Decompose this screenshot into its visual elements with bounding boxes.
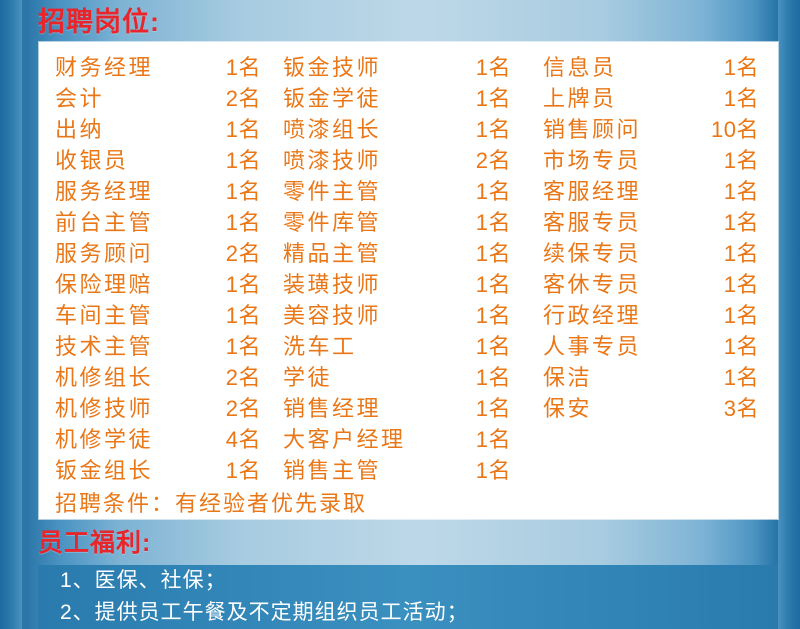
job-title: 出纳 bbox=[55, 114, 104, 145]
job-count: 3名 bbox=[724, 393, 759, 424]
job-count: 1名 bbox=[724, 176, 759, 207]
job-count: 1名 bbox=[226, 114, 261, 145]
job-row: 保洁1名 bbox=[543, 362, 769, 393]
job-row: 收银员1名 bbox=[55, 145, 279, 176]
job-row: 销售经理1名 bbox=[283, 393, 535, 424]
job-title: 喷漆技师 bbox=[283, 145, 381, 176]
job-row: 喷漆技师2名 bbox=[283, 145, 535, 176]
job-count: 2名 bbox=[226, 83, 261, 114]
right-edge-band bbox=[778, 0, 800, 629]
job-count: 1名 bbox=[476, 52, 511, 83]
job-count: 2名 bbox=[476, 145, 511, 176]
job-count: 2名 bbox=[226, 393, 261, 424]
recruitment-requirement: 招聘条件：有经验者优先录取 bbox=[55, 486, 367, 518]
job-count: 2名 bbox=[226, 238, 261, 269]
job-count: 1名 bbox=[724, 207, 759, 238]
job-title: 服务顾问 bbox=[55, 238, 153, 269]
job-row: 精品主管1名 bbox=[283, 238, 535, 269]
job-row: 客休专员1名 bbox=[543, 269, 769, 300]
job-count: 1名 bbox=[724, 269, 759, 300]
job-title: 续保专员 bbox=[543, 238, 641, 269]
job-row: 上牌员1名 bbox=[543, 83, 769, 114]
job-count: 1名 bbox=[476, 269, 511, 300]
job-row: 前台主管1名 bbox=[55, 207, 279, 238]
job-title: 喷漆组长 bbox=[283, 114, 381, 145]
job-title: 前台主管 bbox=[55, 207, 153, 238]
job-count: 1名 bbox=[476, 300, 511, 331]
job-title: 技术主管 bbox=[55, 331, 153, 362]
benefit-line: 1、医保、社保； bbox=[38, 565, 778, 597]
job-count: 1名 bbox=[476, 424, 511, 455]
job-row: 续保专员1名 bbox=[543, 238, 769, 269]
job-title: 车间主管 bbox=[55, 300, 153, 331]
job-row: 服务经理1名 bbox=[55, 176, 279, 207]
job-title: 美容技师 bbox=[283, 300, 381, 331]
job-row: 保安3名 bbox=[543, 393, 769, 424]
jobs-column-2: 钣金技师1名钣金学徒1名喷漆组长1名喷漆技师2名零件主管1名零件库管1名精品主管… bbox=[283, 52, 535, 486]
job-row: 行政经理1名 bbox=[543, 300, 769, 331]
job-count: 1名 bbox=[724, 52, 759, 83]
job-count: 1名 bbox=[226, 207, 261, 238]
job-title: 上牌员 bbox=[543, 83, 617, 114]
job-title: 洗车工 bbox=[283, 331, 357, 362]
job-count: 1名 bbox=[226, 176, 261, 207]
job-row: 车间主管1名 bbox=[55, 300, 279, 331]
job-row: 洗车工1名 bbox=[283, 331, 535, 362]
job-row: 机修学徒4名 bbox=[55, 424, 279, 455]
job-count: 1名 bbox=[226, 145, 261, 176]
job-row: 钣金组长1名 bbox=[55, 455, 279, 486]
job-title: 财务经理 bbox=[55, 52, 153, 83]
job-count: 1名 bbox=[724, 145, 759, 176]
left-edge-band bbox=[0, 0, 22, 629]
job-title: 收银员 bbox=[55, 145, 129, 176]
job-count: 1名 bbox=[226, 455, 261, 486]
job-count: 1名 bbox=[226, 52, 261, 83]
job-title: 精品主管 bbox=[283, 238, 381, 269]
job-title: 机修学徒 bbox=[55, 424, 153, 455]
job-count: 1名 bbox=[226, 331, 261, 362]
job-count: 1名 bbox=[476, 362, 511, 393]
job-row: 技术主管1名 bbox=[55, 331, 279, 362]
job-title: 零件主管 bbox=[283, 176, 381, 207]
job-title: 信息员 bbox=[543, 52, 617, 83]
job-title: 机修组长 bbox=[55, 362, 153, 393]
benefit-line: 2、提供员工午餐及不定期组织员工活动； bbox=[38, 597, 778, 629]
job-count: 1名 bbox=[476, 176, 511, 207]
job-title: 销售顾问 bbox=[543, 114, 641, 145]
job-count: 1名 bbox=[476, 331, 511, 362]
job-title: 学徒 bbox=[283, 362, 332, 393]
jobs-column-3: 信息员1名上牌员1名销售顾问10名市场专员1名客服经理1名客服专员1名续保专员1… bbox=[543, 52, 769, 424]
benefits-section-heading: 员工福利: bbox=[38, 528, 151, 558]
job-count: 1名 bbox=[476, 83, 511, 114]
job-title: 销售经理 bbox=[283, 393, 381, 424]
job-title: 钣金学徒 bbox=[283, 83, 381, 114]
job-row: 大客户经理1名 bbox=[283, 424, 535, 455]
job-count: 1名 bbox=[226, 300, 261, 331]
job-title: 保洁 bbox=[543, 362, 592, 393]
job-row: 服务顾问2名 bbox=[55, 238, 279, 269]
jobs-section-heading: 招聘岗位: bbox=[38, 6, 160, 38]
job-count: 1名 bbox=[476, 114, 511, 145]
job-count: 1名 bbox=[476, 238, 511, 269]
job-row: 钣金学徒1名 bbox=[283, 83, 535, 114]
job-title: 客休专员 bbox=[543, 269, 641, 300]
job-title: 装璜技师 bbox=[283, 269, 381, 300]
job-count: 2名 bbox=[226, 362, 261, 393]
job-title: 市场专员 bbox=[543, 145, 641, 176]
job-title: 机修技师 bbox=[55, 393, 153, 424]
jobs-column-1: 财务经理1名会计2名出纳1名收银员1名服务经理1名前台主管1名服务顾问2名保险理… bbox=[55, 52, 279, 486]
job-row: 学徒1名 bbox=[283, 362, 535, 393]
job-count: 1名 bbox=[226, 269, 261, 300]
job-count: 1名 bbox=[724, 331, 759, 362]
job-title: 保安 bbox=[543, 393, 592, 424]
job-row: 销售主管1名 bbox=[283, 455, 535, 486]
job-count: 1名 bbox=[476, 393, 511, 424]
job-count: 4名 bbox=[226, 424, 261, 455]
job-count: 1名 bbox=[724, 362, 759, 393]
job-title: 零件库管 bbox=[283, 207, 381, 238]
jobs-panel: 财务经理1名会计2名出纳1名收银员1名服务经理1名前台主管1名服务顾问2名保险理… bbox=[39, 42, 778, 519]
job-row: 美容技师1名 bbox=[283, 300, 535, 331]
job-title: 大客户经理 bbox=[283, 424, 406, 455]
job-count: 1名 bbox=[724, 83, 759, 114]
job-row: 零件主管1名 bbox=[283, 176, 535, 207]
job-row: 客服专员1名 bbox=[543, 207, 769, 238]
job-title: 客服经理 bbox=[543, 176, 641, 207]
job-row: 喷漆组长1名 bbox=[283, 114, 535, 145]
job-title: 行政经理 bbox=[543, 300, 641, 331]
job-row: 钣金技师1名 bbox=[283, 52, 535, 83]
recruitment-poster: 招聘岗位: 财务经理1名会计2名出纳1名收银员1名服务经理1名前台主管1名服务顾… bbox=[0, 0, 800, 629]
job-row: 会计2名 bbox=[55, 83, 279, 114]
job-count: 1名 bbox=[476, 455, 511, 486]
job-row: 人事专员1名 bbox=[543, 331, 769, 362]
job-title: 保险理赔 bbox=[55, 269, 153, 300]
job-row: 市场专员1名 bbox=[543, 145, 769, 176]
job-title: 销售主管 bbox=[283, 455, 381, 486]
benefits-box: 1、医保、社保；2、提供员工午餐及不定期组织员工活动； bbox=[38, 565, 778, 629]
job-title: 客服专员 bbox=[543, 207, 641, 238]
job-row: 机修技师2名 bbox=[55, 393, 279, 424]
job-row: 装璜技师1名 bbox=[283, 269, 535, 300]
job-row: 信息员1名 bbox=[543, 52, 769, 83]
job-row: 保险理赔1名 bbox=[55, 269, 279, 300]
job-count: 1名 bbox=[724, 300, 759, 331]
job-title: 服务经理 bbox=[55, 176, 153, 207]
job-count: 10名 bbox=[711, 114, 759, 145]
job-title: 钣金技师 bbox=[283, 52, 381, 83]
job-row: 出纳1名 bbox=[55, 114, 279, 145]
jobs-columns: 财务经理1名会计2名出纳1名收银员1名服务经理1名前台主管1名服务顾问2名保险理… bbox=[39, 42, 778, 519]
job-row: 零件库管1名 bbox=[283, 207, 535, 238]
job-row: 财务经理1名 bbox=[55, 52, 279, 83]
job-row: 销售顾问10名 bbox=[543, 114, 769, 145]
job-title: 人事专员 bbox=[543, 331, 641, 362]
job-count: 1名 bbox=[476, 207, 511, 238]
job-row: 机修组长2名 bbox=[55, 362, 279, 393]
job-count: 1名 bbox=[724, 238, 759, 269]
job-title: 钣金组长 bbox=[55, 455, 153, 486]
job-row: 客服经理1名 bbox=[543, 176, 769, 207]
job-title: 会计 bbox=[55, 83, 104, 114]
